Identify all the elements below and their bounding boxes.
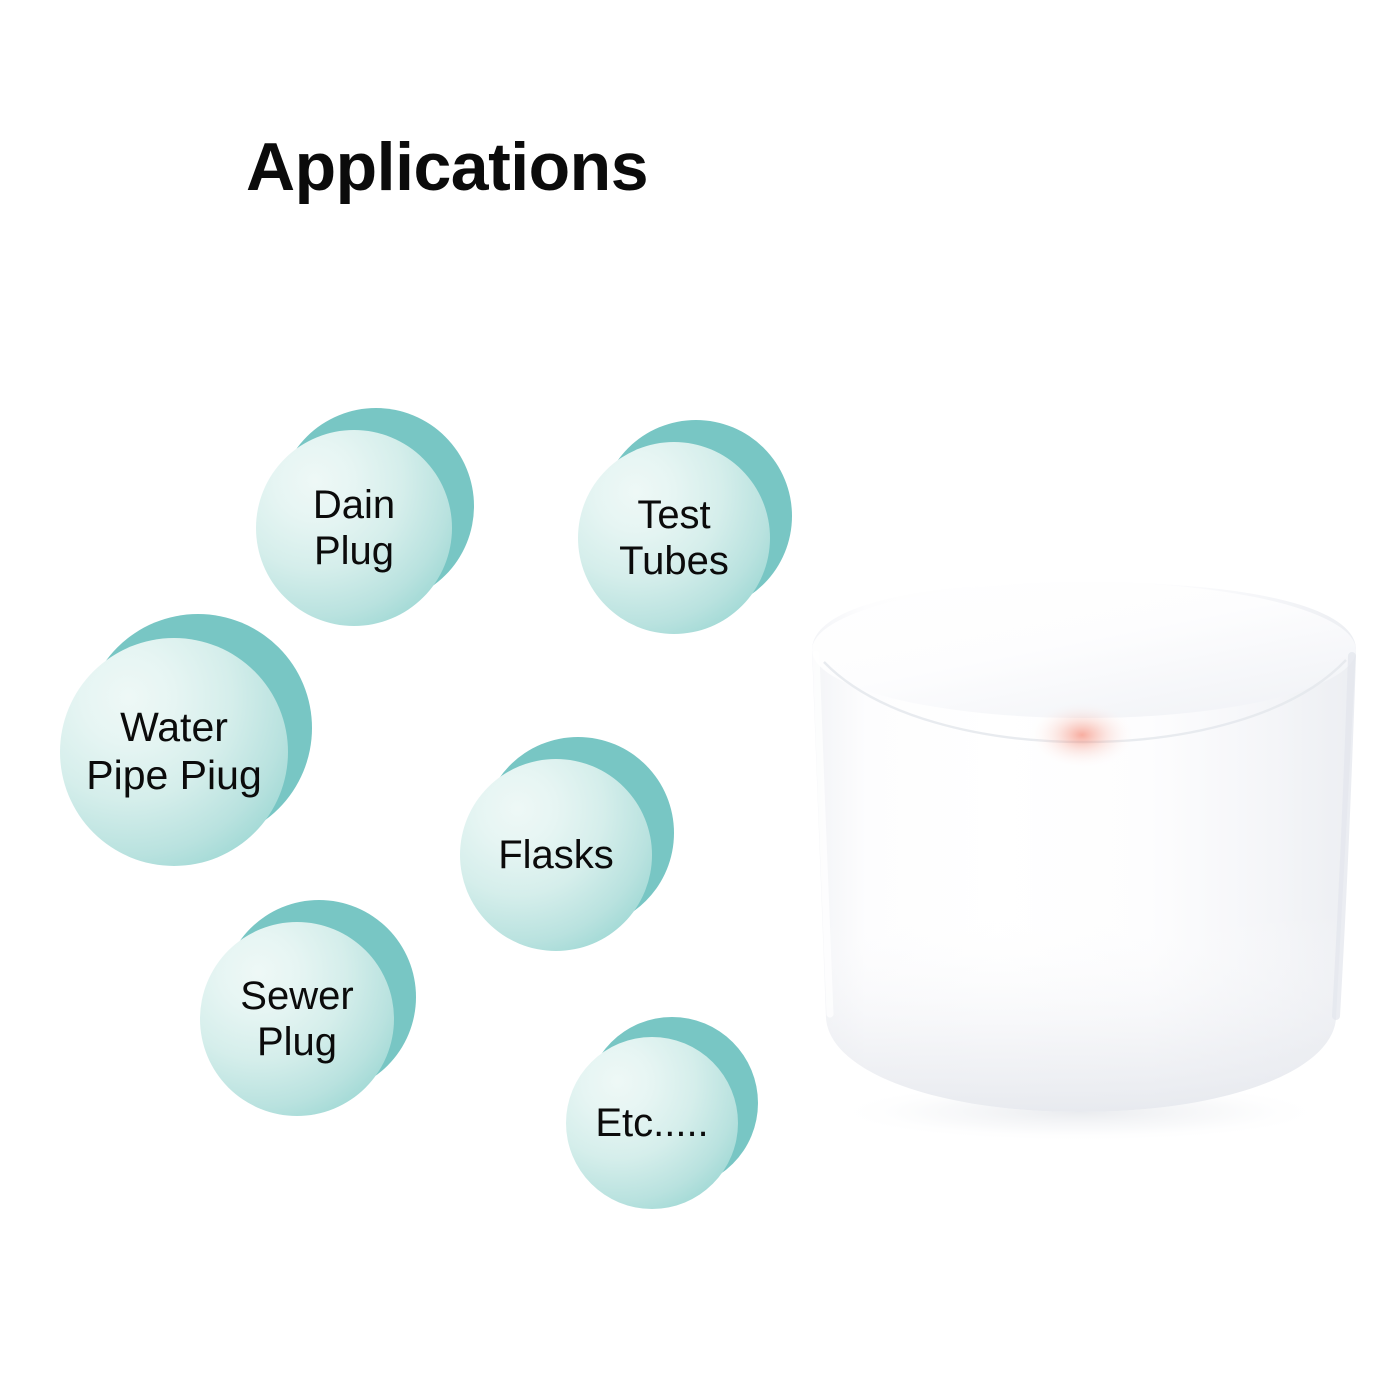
bubble-label-test-tubes: Test Tubes <box>619 492 729 585</box>
bubble-sewer-plug: Sewer Plug <box>200 900 416 1116</box>
bubble-flasks: Flasks <box>460 737 674 951</box>
stopper-top-cap <box>812 582 1356 718</box>
cord-entry-glow-top <box>1028 701 1136 769</box>
bubble-face: Water Pipe Piug <box>60 638 288 866</box>
bubble-face: Dain Plug <box>256 430 452 626</box>
bubble-label-dain-plug: Dain Plug <box>313 482 395 575</box>
product-image-silicone-stopper <box>780 350 1400 1170</box>
bubble-label-water-pipe-piug: Water Pipe Piug <box>60 704 288 799</box>
bubble-label-etc: Etc..... <box>595 1100 708 1146</box>
bubble-test-tubes: Test Tubes <box>578 420 792 634</box>
page-title: Applications <box>246 133 648 201</box>
bubble-face: Etc..... <box>566 1037 738 1209</box>
silicone-stopper-body <box>812 582 1356 1112</box>
applications-infographic: Applications Dain Plug Test Tubes Water … <box>0 0 1400 1400</box>
bubble-label-flasks: Flasks <box>498 832 614 878</box>
bubble-water-pipe-piug: Water Pipe Piug <box>60 614 312 866</box>
bubble-dain-plug: Dain Plug <box>256 408 474 626</box>
bubble-etc: Etc..... <box>566 1017 758 1209</box>
bubble-face: Sewer Plug <box>200 922 394 1116</box>
bubble-label-sewer-plug: Sewer Plug <box>240 973 353 1066</box>
bubble-face: Flasks <box>460 759 652 951</box>
bubble-face: Test Tubes <box>578 442 770 634</box>
